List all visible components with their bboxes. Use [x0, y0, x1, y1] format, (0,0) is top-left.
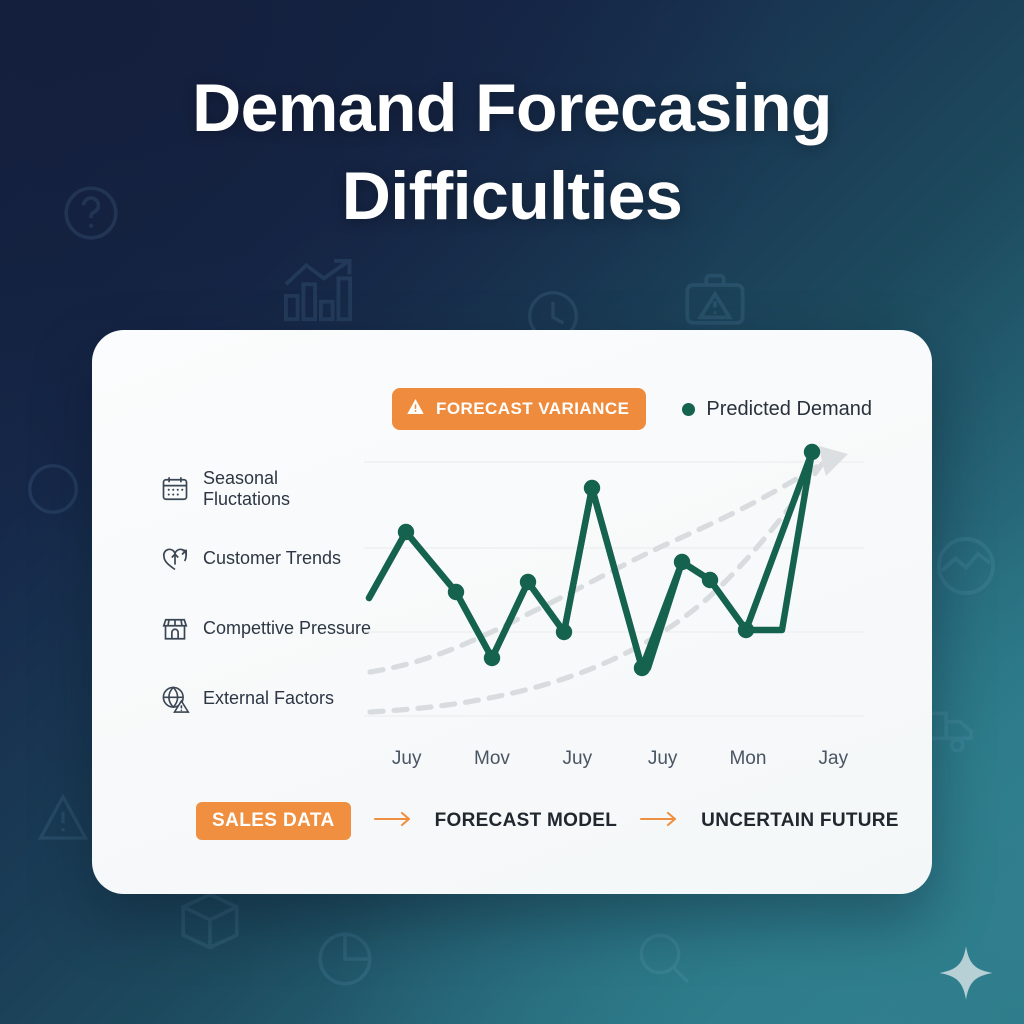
- storefront-icon: [160, 614, 190, 644]
- factor-item-external-factors[interactable]: External Factors: [160, 668, 390, 730]
- sparkle-icon: [937, 944, 995, 1007]
- pie-chart-icon: [312, 926, 378, 992]
- bar-chart-trend-icon: [280, 258, 356, 328]
- globe-warning-icon: [160, 684, 190, 714]
- arrow-right-icon: [639, 810, 679, 833]
- circle-outline-icon: [22, 458, 84, 520]
- warning-triangle-icon: [32, 788, 94, 848]
- chart-header: FORECAST VARIANCE Predicted Demand: [392, 388, 872, 430]
- factor-item-label: Compettive Pressure: [203, 618, 371, 639]
- briefcase-warning-icon: [678, 266, 752, 336]
- flow-step-sales-data[interactable]: SALES DATA: [196, 802, 351, 840]
- demand-line-chart: [364, 440, 864, 740]
- x-tick-label: Mov: [449, 748, 534, 770]
- x-tick-label: Mon: [705, 748, 790, 770]
- factor-item-label: Seasonal Fluctations: [203, 468, 290, 510]
- chart-legend[interactable]: Predicted Demand: [682, 398, 872, 421]
- warning-triangle-icon: [406, 397, 425, 421]
- box-icon: [175, 890, 245, 952]
- search-icon: [632, 926, 696, 990]
- process-flow: SALES DATA FORECAST MODEL UNCERTAIN FUTU…: [196, 802, 899, 840]
- flow-step-uncertain-future[interactable]: UNCERTAIN FUTURE: [701, 810, 899, 832]
- page-title-line-2: Difficulties: [0, 152, 1024, 240]
- forecast-variance-badge[interactable]: FORECAST VARIANCE: [392, 388, 646, 430]
- forecast-variance-badge-label: FORECAST VARIANCE: [436, 399, 629, 419]
- page-title: Demand Forecasing Difficulties: [0, 64, 1024, 241]
- flow-step-forecast-model[interactable]: FORECAST MODEL: [435, 810, 618, 832]
- factor-item-customer-trends[interactable]: Customer Trends: [160, 528, 390, 590]
- x-tick-label: Juy: [364, 748, 449, 770]
- factor-item-label: External Factors: [203, 688, 334, 709]
- x-tick-label: Jay: [791, 748, 876, 770]
- x-tick-label: Juy: [535, 748, 620, 770]
- upward-trend-arrow-icon: [819, 446, 848, 476]
- factor-item-compettive-pressure[interactable]: Compettive Pressure: [160, 598, 390, 660]
- legend-label: Predicted Demand: [706, 398, 872, 421]
- legend-color-dot: [682, 403, 695, 416]
- heart-trend-arrow-icon: [160, 544, 190, 574]
- factor-item-seasonal-fluctations[interactable]: Seasonal Fluctations: [160, 458, 390, 520]
- factor-item-label: Customer Trends: [203, 548, 341, 569]
- page-title-line-1: Demand Forecasing: [0, 64, 1024, 152]
- x-tick-label: Juy: [620, 748, 705, 770]
- forecast-card: FORECAST VARIANCE Predicted Demand: [92, 330, 932, 894]
- globe-network-icon: [930, 530, 1002, 602]
- poster-background: Demand Forecasing Difficulties FORECAST …: [0, 0, 1024, 1024]
- arrow-right-icon: [373, 810, 413, 833]
- chart-x-axis: Juy Mov Juy Juy Mon Jay: [364, 748, 876, 770]
- factor-list: Seasonal Fluctations Customer Trends: [160, 458, 390, 738]
- calendar-icon: [160, 474, 190, 504]
